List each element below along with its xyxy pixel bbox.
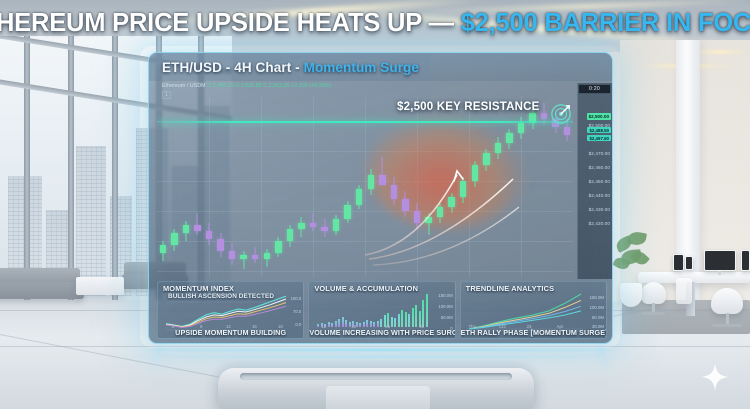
panel-y-tick: 50.0M xyxy=(592,315,604,320)
console-notch xyxy=(326,386,430,409)
chair-base xyxy=(641,312,665,315)
sofa xyxy=(0,282,84,299)
monitor xyxy=(741,250,750,271)
panel-title: VOLUME & ACCUMULATION xyxy=(314,284,418,293)
candle xyxy=(391,97,397,277)
volume-bar xyxy=(345,320,347,327)
chair-base xyxy=(712,324,742,327)
candle xyxy=(252,97,258,277)
holo-base-line xyxy=(132,349,628,351)
page-title: ETHEREUM PRICE UPSIDE HEATS UP — $2,500 … xyxy=(0,9,750,38)
price-tick: $2,460.00 xyxy=(589,165,610,170)
volume-bar xyxy=(412,308,414,327)
ticker-symbol: Ethereum / USDM xyxy=(162,83,206,89)
volume-bar xyxy=(415,305,417,327)
candle xyxy=(240,97,246,277)
volume-bar xyxy=(342,317,344,327)
monitor-stand xyxy=(718,271,721,275)
price-highlight-tertiary: $2,497.60 xyxy=(587,135,611,141)
panel-y-tick: 100.0M xyxy=(438,304,452,309)
candlestick-chart[interactable]: $2,500 KEY RESISTANCE xyxy=(157,97,573,277)
candle xyxy=(483,97,489,277)
volume-bar xyxy=(426,294,428,327)
candle xyxy=(402,97,408,277)
candle xyxy=(275,97,281,277)
candle xyxy=(495,97,501,277)
volume-bar xyxy=(335,321,337,327)
panel-y-tick: 150.0M xyxy=(590,295,604,300)
coffee-table xyxy=(76,277,124,295)
candle xyxy=(414,97,420,277)
candle xyxy=(437,97,443,277)
candle xyxy=(333,97,339,277)
screenshot-root: ETHEREUM PRICE UPSIDE HEATS UP — $2,500 … xyxy=(0,0,750,409)
candle xyxy=(460,97,466,277)
volume-bar xyxy=(408,314,410,327)
monitor xyxy=(673,254,684,271)
candle xyxy=(321,97,327,277)
price-tick: $2,470.00 xyxy=(589,151,610,156)
volume-bar xyxy=(405,312,407,327)
volume-bar xyxy=(373,322,375,327)
candle xyxy=(518,97,524,277)
countdown-badge: 0:20 xyxy=(578,84,611,94)
candle xyxy=(264,97,270,277)
headline-blue: $2,500 BARRIER IN FOCUS xyxy=(461,9,750,37)
candle xyxy=(217,97,223,277)
candle xyxy=(379,97,385,277)
panel-y-tick: 0.0 xyxy=(295,322,301,327)
candle xyxy=(183,97,189,277)
candle xyxy=(160,97,166,277)
volume-bar xyxy=(338,319,340,327)
skyline-tower xyxy=(76,146,106,296)
volume-bar xyxy=(377,321,379,327)
candle xyxy=(310,97,316,277)
candle xyxy=(229,97,235,277)
price-tick: $2,440.00 xyxy=(589,193,610,198)
ticker-line: Ethereum / USDM O 2,490.10 H 2,506.80 C … xyxy=(162,83,331,89)
candle xyxy=(356,97,362,277)
desk-cabinet xyxy=(676,278,692,304)
volume-bar xyxy=(370,321,372,327)
volume-bar xyxy=(380,319,382,327)
candle xyxy=(287,97,293,277)
volume-bar xyxy=(356,322,358,327)
panel-y-tick: 100.0 xyxy=(291,296,302,301)
price-axis[interactable]: $2,500.00$2,480.00$2,470.00$2,460.00$2,4… xyxy=(577,83,612,279)
candle xyxy=(298,97,304,277)
panel-y-tick: 100.0M xyxy=(590,305,604,310)
headline-white: ETHEREUM PRICE UPSIDE HEATS UP — xyxy=(0,9,461,37)
sparkle-icon xyxy=(700,362,730,392)
volume-bar xyxy=(401,310,403,327)
console-pedestal xyxy=(218,368,534,409)
price-tick: $2,420.00 xyxy=(589,221,610,226)
panel-footer: ETH RALLY PHASE [MOMENTUM SURGE] xyxy=(461,328,606,337)
ticker-ohlc: O 2,490.10 H 2,506.80 C 2,502.00 +2.100 … xyxy=(207,83,331,89)
volume-bar xyxy=(328,322,330,327)
price-tick: $2,450.00 xyxy=(589,179,610,184)
panel-volume-accumulation[interactable]: VOLUME & ACCUMULATION 150.0M 100.0M 50.0… xyxy=(308,281,455,339)
headline-band: ETHEREUM PRICE UPSIDE HEATS UP — $2,500 … xyxy=(0,0,750,46)
console-slot xyxy=(240,373,512,380)
candle xyxy=(171,97,177,277)
candle xyxy=(472,97,478,277)
volume-bar xyxy=(391,317,393,327)
holo-base-line xyxy=(108,356,652,358)
price-highlight-secondary: $2,488.50 xyxy=(587,127,611,133)
office-chair xyxy=(711,288,743,314)
chart-title: ETH/USD - 4H Chart - Momentum Surge xyxy=(162,60,419,75)
candle xyxy=(448,97,454,277)
volume-bar xyxy=(422,300,424,327)
monitor xyxy=(704,250,736,271)
panel-momentum-index[interactable]: MOMENTUM INDEX BULLISH ASCENSION DETECTE… xyxy=(157,281,304,339)
candle xyxy=(194,97,200,277)
hologram-panel[interactable]: ETH/USD - 4H Chart - Momentum Surge Ethe… xyxy=(148,52,613,344)
candle xyxy=(506,97,512,277)
volume-bar xyxy=(394,318,396,327)
chart-title-main: ETH/USD - 4H Chart - xyxy=(162,60,304,75)
candle xyxy=(344,97,350,277)
volume-bar xyxy=(359,323,361,327)
plant-pot xyxy=(620,283,642,307)
candle xyxy=(206,97,212,277)
panel-y-tick: 50.0M xyxy=(441,315,453,320)
panel-footer: VOLUME INCREASING WITH PRICE SURGE xyxy=(309,328,454,337)
volume-bar xyxy=(331,323,333,327)
resistance-label: $2,500 KEY RESISTANCE xyxy=(397,101,539,113)
volume-bar xyxy=(398,314,400,327)
candle xyxy=(368,97,374,277)
panel-trendline-analytics[interactable]: TRENDLINE ANALYTICS 150.0M 100.0M 50.0M … xyxy=(460,281,607,339)
candle xyxy=(425,97,431,277)
candle xyxy=(529,97,535,277)
price-highlight: $2,500.00 xyxy=(587,113,611,120)
chart-title-accent: Momentum Surge xyxy=(304,60,419,75)
candle xyxy=(541,97,547,277)
panel-y-tick: 150.0M xyxy=(438,293,452,298)
office-chair xyxy=(641,282,666,304)
monitor xyxy=(685,256,693,270)
indicator-panels: MOMENTUM INDEX BULLISH ASCENSION DETECTE… xyxy=(157,281,607,339)
panel-y-tick: 70.0 xyxy=(293,309,301,314)
target-icon xyxy=(550,103,572,125)
panel-footer: UPSIDE MOMENTUM BUILDING xyxy=(158,328,303,337)
hologram-header: ETH/USD - 4H Chart - Momentum Surge xyxy=(149,53,612,81)
volume-bar xyxy=(366,320,368,327)
resistance-line xyxy=(157,121,573,123)
volume-bar xyxy=(317,324,319,327)
price-tick: $2,430.00 xyxy=(589,207,610,212)
volume-bar xyxy=(363,322,365,327)
